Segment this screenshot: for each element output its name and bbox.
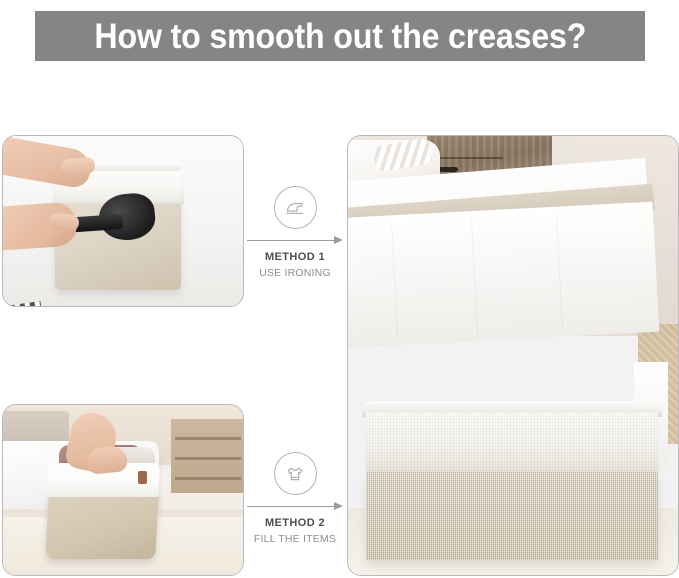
fabric-fold [391,221,398,339]
basket-linen-body [366,472,658,560]
arrow-line [247,506,335,507]
iron-icon [274,186,317,229]
page-title: How to smooth out the creases? [94,19,586,54]
arrow-head [334,236,343,244]
tshirt-icon [274,452,317,495]
method-subtitle: FILL THE ITEMS [243,533,347,546]
arrow-head [334,502,343,510]
scene-bedroom-result [348,136,678,575]
photo-panel-ironing [2,135,244,307]
header-banner: How to smooth out the creases? [35,11,645,61]
method-title: METHOD 2 [243,517,347,531]
bed-skirt [347,202,659,349]
photo-panel-filling [2,404,244,576]
arrow-right-icon [247,235,343,245]
dresser-drawer-line [175,457,241,460]
arrow-line [247,240,335,241]
method-title: METHOD 1 [243,251,347,265]
method-1-block: METHOD 1 USE IRONING [243,186,347,280]
fabric-fold [471,217,478,335]
basket-linen-body [45,491,159,559]
method-subtitle: USE IRONING [243,267,347,280]
scene-bedroom-filling [3,405,243,575]
hand [86,445,128,475]
basket-white-cuff [366,412,658,474]
fabric-fold [556,213,563,331]
dresser [171,419,244,493]
photo-panel-result [347,135,679,576]
dresser-drawer-line [175,477,241,480]
leather-tag [138,471,147,484]
linen-texture [366,472,658,560]
arrow-right-icon [247,501,343,511]
method-2-block: METHOD 2 FILL THE ITEMS [243,452,347,546]
dresser-drawer-line [175,437,241,440]
scene-ironing [3,136,243,306]
cuff-texture [366,412,658,474]
fingers-lower [48,212,80,231]
